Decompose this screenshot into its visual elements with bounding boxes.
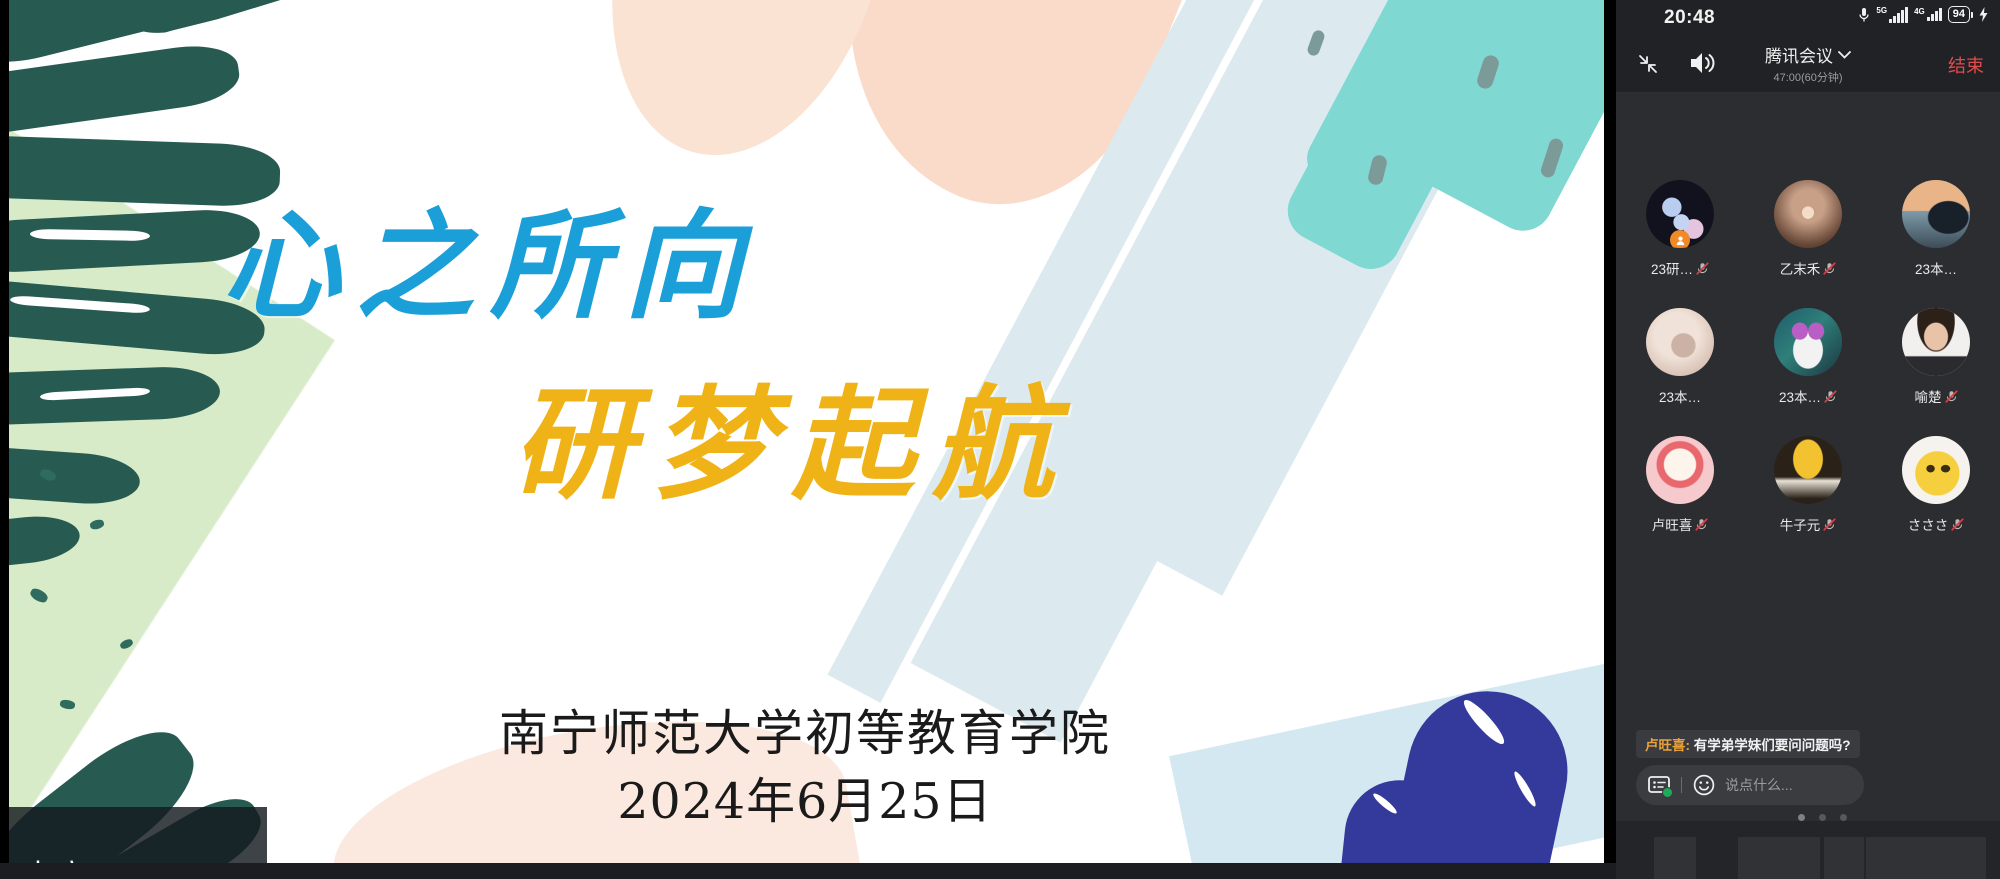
- grey-speckle: [1306, 29, 1326, 58]
- participant-name: 喻楚: [1915, 386, 1942, 406]
- teal-brush-stroke: [0, 0, 254, 74]
- participant-name: 23本…: [1779, 386, 1821, 406]
- chevron-down-icon: [1838, 51, 1851, 59]
- participant-name-row: 23研…: [1625, 258, 1735, 278]
- collapse-arrows-icon[interactable]: [1636, 52, 1660, 76]
- participant-name: 牛子元: [1780, 514, 1821, 534]
- mic-muted-icon: [1945, 390, 1958, 403]
- meeting-title-label: 腾讯会议: [1765, 42, 1833, 67]
- microphone-icon: [1858, 7, 1870, 23]
- participant-name-row: 23本…: [1625, 386, 1735, 406]
- page-dot[interactable]: [1798, 814, 1805, 821]
- avatar: [1902, 180, 1970, 248]
- os-strip-segment: [1824, 837, 1864, 879]
- teal-speckle: [39, 468, 57, 483]
- avatar: [1774, 180, 1842, 248]
- teal-brush-stroke: [0, 39, 243, 140]
- chat-message-text: 有学弟学妹们要问问题吗?: [1694, 738, 1851, 753]
- participant-cell[interactable]: 23本…: [1881, 180, 1991, 278]
- teal-brush-stroke: [116, 0, 345, 45]
- os-strip-segment: [1738, 837, 1820, 879]
- slide-title-line-1: 心之所向: [222, 170, 758, 341]
- participant-cell[interactable]: 卢旺喜: [1625, 436, 1735, 534]
- teal-brush-stroke: [0, 512, 82, 574]
- chat-message-icon[interactable]: [1648, 775, 1670, 795]
- os-bottom-strip: [1616, 821, 2000, 879]
- participant-cell[interactable]: 牛子元: [1753, 436, 1863, 534]
- grey-speckle: [1475, 53, 1501, 90]
- slide-title-line-2: 研梦起航: [512, 346, 1072, 523]
- emoji-smiley-icon[interactable]: [1693, 774, 1715, 796]
- teal-speckle: [28, 586, 49, 605]
- page-indicator-dots: [1798, 814, 1847, 821]
- participant-row: 23本… 23本…: [1616, 308, 2000, 406]
- participant-name-row: 乙末禾: [1753, 258, 1863, 278]
- mic-muted-icon: [1951, 518, 1964, 531]
- chat-divider: [1681, 777, 1682, 793]
- teal-brush-stroke: [0, 443, 141, 508]
- lightning-bolt-icon: [1979, 7, 1988, 22]
- brush-highlight: [40, 387, 150, 401]
- participant-name: 23本…: [1915, 258, 1957, 278]
- participant-name-row: 23本…: [1753, 386, 1863, 406]
- tencent-meeting-panel: 20:48 5G 4G 94: [1616, 0, 2000, 879]
- mic-muted-icon: [1824, 390, 1837, 403]
- network-label-4g: 4G: [1914, 8, 1925, 16]
- participant-name: 23研…: [1651, 258, 1693, 278]
- participant-cell[interactable]: さささ: [1881, 436, 1991, 534]
- teal-speckle: [89, 518, 105, 530]
- participant-row: 卢旺喜 牛子元: [1616, 436, 2000, 534]
- mic-muted-icon: [1696, 262, 1709, 275]
- participant-cell[interactable]: 23研…: [1625, 180, 1735, 278]
- os-strip-segment: [1654, 837, 1696, 879]
- brush-highlight: [150, 14, 240, 47]
- participant-cell[interactable]: 乙末禾: [1753, 180, 1863, 278]
- avatar: [1646, 180, 1714, 248]
- screenshot-root: 心之所向 研梦起航 南宁师范大学初等教育学院 2024年6月25日 古高 20:…: [0, 0, 2000, 879]
- participant-name-row: 卢旺喜: [1625, 514, 1735, 534]
- chat-message-sender: 卢旺喜:: [1645, 738, 1690, 753]
- chat-input-placeholder[interactable]: 说点什么...: [1725, 775, 1793, 795]
- video-right-rail: [1604, 0, 1610, 879]
- host-person-icon: [1675, 235, 1686, 246]
- participant-name: 卢旺喜: [1652, 514, 1693, 534]
- battery-icon: 94: [1948, 6, 1973, 23]
- avatar: [1774, 436, 1842, 504]
- participant-name: 23本…: [1659, 386, 1701, 406]
- chat-message: 卢旺喜: 有学弟学妹们要问问题吗?: [1636, 730, 1860, 758]
- participant-cell[interactable]: 喻楚: [1881, 308, 1991, 406]
- peach-shape-art-2: [567, 0, 933, 188]
- speaker-on-icon[interactable]: [1688, 50, 1716, 76]
- page-dot[interactable]: [1840, 814, 1847, 821]
- video-left-rail: [0, 0, 9, 879]
- participant-name-row: さささ: [1881, 514, 1991, 534]
- chat-input-bar[interactable]: 说点什么...: [1636, 765, 1864, 805]
- brush-highlight: [60, 112, 231, 140]
- status-bar: 20:48 5G 4G 94: [1616, 0, 2000, 36]
- avatar: [1902, 308, 1970, 376]
- shared-screen-slide: 心之所向 研梦起航 南宁师范大学初等教育学院 2024年6月25日 古高: [0, 0, 1610, 879]
- avatar: [1774, 308, 1842, 376]
- unread-indicator-dot: [1662, 787, 1673, 798]
- meeting-duration: 47:00(60分钟): [1616, 69, 2000, 85]
- teal-speckle: [119, 638, 134, 651]
- teal-brush-stroke: [0, 365, 221, 427]
- mic-muted-icon: [1823, 518, 1836, 531]
- status-icons: 5G 4G 94: [1858, 6, 1988, 23]
- participant-cell[interactable]: 23本…: [1753, 308, 1863, 406]
- avatar: [1646, 308, 1714, 376]
- slide-organization: 南宁师范大学初等教育学院: [0, 694, 1610, 765]
- signal-5g-icon: 5G: [1876, 7, 1908, 23]
- participant-cell[interactable]: 23本…: [1625, 308, 1735, 406]
- brush-highlight: [30, 229, 150, 241]
- network-label-5g: 5G: [1876, 7, 1887, 15]
- participant-name-row: 喻楚: [1881, 386, 1991, 406]
- meeting-title-button[interactable]: 腾讯会议: [1765, 42, 1851, 67]
- participant-name: さささ: [1908, 514, 1949, 534]
- mic-muted-icon: [1823, 262, 1836, 275]
- cyan-brush-stroke: [1403, 0, 1610, 241]
- os-strip-segment: [1866, 837, 1986, 879]
- status-clock: 20:48: [1664, 7, 1715, 29]
- participant-name-row: 牛子元: [1753, 514, 1863, 534]
- end-meeting-button[interactable]: 结束: [1948, 52, 1984, 78]
- grey-speckle: [1367, 154, 1389, 187]
- mic-muted-icon: [1695, 518, 1708, 531]
- meeting-header: 腾讯会议 47:00(60分钟) 结束: [1616, 36, 2000, 93]
- battery-level: 94: [1953, 7, 1965, 22]
- participant-grid: 23研… 乙末禾: [1616, 92, 2000, 672]
- avatar: [1902, 436, 1970, 504]
- grey-speckle: [1539, 137, 1565, 179]
- cyan-brush-stroke: [1298, 0, 1469, 195]
- participant-row: 23研… 乙末禾: [1616, 180, 2000, 278]
- page-dot[interactable]: [1819, 814, 1826, 821]
- brush-highlight: [10, 295, 150, 314]
- avatar: [1646, 436, 1714, 504]
- peach-shape-art: [776, 0, 1243, 246]
- cyan-brush-stroke: [1277, 0, 1571, 280]
- participant-name-row: 23本…: [1881, 258, 1991, 278]
- signal-4g-icon: 4G: [1914, 8, 1942, 21]
- host-badge: [1670, 230, 1690, 248]
- participant-name: 乙末禾: [1780, 258, 1821, 278]
- pale-blue-diagonal: [1107, 0, 1610, 596]
